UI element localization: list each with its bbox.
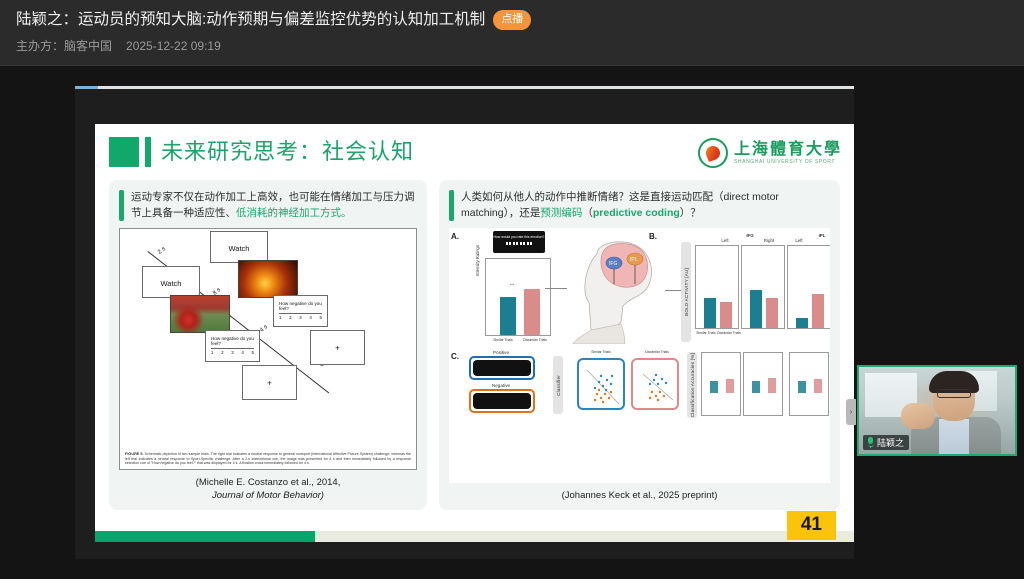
speaker-shirt — [939, 419, 969, 456]
organizer-label: 主办方：脑客中国 — [16, 39, 112, 53]
slide-title: 未来研究思考：社会认知 — [161, 136, 414, 168]
stimulus-image-fire — [238, 260, 298, 298]
right-quote-text: 人类如何从他人的动作中推断情绪？这是直接运动匹配（direct motor ma… — [461, 190, 830, 221]
panel-b-chart-ifg-left — [695, 245, 739, 329]
rating-num: 2 — [221, 350, 223, 355]
scatter-svg-similar — [581, 362, 625, 410]
stimulus-frame-negative — [469, 389, 535, 413]
timing-label-1: 2 s — [157, 246, 167, 256]
rating-question-lower: How negative do you feel? — [211, 336, 259, 346]
task-prompt-text: How would you rate this emotion? — [493, 231, 545, 239]
panel-b-hemi-2: Right — [755, 238, 783, 243]
bar-similar — [796, 318, 808, 328]
figure-caption: FIGURE 5. Schematic depiction of two sam… — [125, 452, 411, 466]
left-quote-text: 运动专家不仅在动作加工上高效，也可能在情绪加工与压力调节上具备一种适应性、低消耗… — [131, 190, 417, 221]
task-prompt-screen: How would you rate this emotion? — [493, 231, 545, 253]
slide-progress-fill — [95, 531, 315, 542]
university-logo: 上海體育大學 SHANGHAI UNIVERSITY OF SPORT — [698, 138, 842, 168]
bar-dissimilar-trials — [524, 289, 540, 335]
rating-card-upper: How negative do you feel? 1 2 3 4 5 — [273, 295, 328, 327]
rating-num: 1 — [211, 350, 213, 355]
presentation-slide: 未来研究思考：社会认知 上海體育大學 SHANGHAI UNIVERSITY O… — [95, 124, 854, 542]
stimulus-strip-negative — [473, 393, 531, 409]
cue-card-upper: Watch — [210, 231, 268, 263]
rating-num: 3 — [231, 350, 233, 355]
speaker-name: 陆颖之 — [877, 438, 904, 448]
logo-name-en: SHANGHAI UNIVERSITY OF SPORT — [734, 160, 842, 165]
panel-b-hemi-4: Right — [827, 238, 830, 243]
panel-a-ylabel: Intensity Ratings — [475, 245, 480, 276]
quote-accent-bar — [119, 190, 124, 221]
slide-columns: 运动专家不仅在动作加工上高效，也可能在情绪加工与压力调节上具备一种适应性、低消耗… — [109, 180, 840, 510]
right-content-card: 人类如何从他人的动作中推断情绪？这是直接运动匹配（direct motor ma… — [439, 180, 840, 510]
stimulus-image-sport — [170, 295, 230, 333]
panel-b-ylabel: BOLD ACTIVITY [AU] — [684, 268, 689, 316]
rating-numbers-lower: 1 2 3 4 5 — [211, 349, 254, 355]
rating-num: 2 — [289, 315, 291, 320]
scatter-svg-dissimilar — [635, 362, 679, 410]
panel-b-letter: B. — [649, 232, 657, 241]
left-quote-end: 。 — [341, 207, 352, 219]
rating-num: 1 — [279, 315, 281, 320]
stimulus-frame-positive — [469, 356, 535, 380]
slide-header: 未来研究思考：社会认知 上海體育大學 SHANGHAI UNIVERSITY O… — [95, 124, 854, 180]
bar-dissimilar — [766, 298, 778, 328]
rating-num: 3 — [299, 315, 301, 320]
quote-accent-bar-right — [449, 190, 454, 221]
webinar-player-app: 陆颖之：运动员的预知大脑:动作预期与偏差监控优势的认知加工机制 点播 主办方：脑… — [0, 0, 1024, 579]
right-figure-neuroimaging: A. How would you rate this emotion? — [449, 228, 830, 483]
rating-card-lower: How negative do you feel? 1 2 3 4 5 — [205, 330, 260, 362]
cue-card-lower: Watch — [142, 266, 200, 298]
page-header: 陆颖之：运动员的预知大脑:动作预期与偏差监控优势的认知加工机制 点播 主办方：脑… — [0, 0, 1024, 66]
figure-caption-text: Schematic depiction of two sample trials… — [125, 452, 411, 465]
right-quote-line1: 人类如何从他人的动作中推断情绪？这是直接运动匹配 — [461, 191, 713, 203]
panel-c-boxplot-ifg-left — [701, 352, 741, 416]
brain-head-diagram: IFG IPL — [567, 236, 665, 344]
meta-row: 主办方：脑客中国 2025-12-22 09:19 — [16, 39, 1008, 53]
box-similar — [798, 381, 806, 393]
bar-similar — [704, 298, 716, 328]
panel-c-ylabel-band: Classification Accuracies [%] — [687, 352, 697, 418]
collapse-panel-handle[interactable]: › — [846, 399, 856, 425]
classifier-band: Classifier — [553, 356, 563, 414]
rating-num: 4 — [241, 350, 243, 355]
left-quote-line1: 运动专家不仅在动作加工上高效，也可能在情 — [131, 191, 341, 203]
panel-c-boxplot-ifg-right — [743, 352, 783, 416]
scatter-plot-similar — [577, 358, 625, 410]
stimulus-label-negative: Negative — [469, 383, 533, 388]
right-quote-line2c: ）？ — [680, 207, 701, 219]
left-citation: (Michelle E. Costanzo et al., 2014, Jour… — [119, 476, 417, 502]
head-svg-icon: IFG IPL — [567, 236, 665, 344]
right-quote-line2b: （ — [582, 207, 593, 219]
rating-num: 5 — [320, 315, 322, 320]
left-figure-paradigm: 2 s 8 s 4 s 4 s Watch How negative do yo… — [119, 228, 417, 470]
panel-c-scatter-label-dissimilar: Dissimilar Trials — [631, 350, 683, 354]
title-row: 陆颖之：运动员的预知大脑:动作预期与偏差监控优势的认知加工机制 点播 — [16, 10, 1008, 30]
fixation-cross-lower — [242, 365, 297, 400]
box-dissimilar — [814, 379, 822, 393]
panel-b-ylabel-band: BOLD ACTIVITY [AU] — [681, 242, 691, 342]
panel-c-scatter-label-similar: Similar Trials — [577, 350, 625, 354]
bar-dissimilar — [720, 302, 732, 328]
cue-label-lower: Watch — [143, 279, 199, 288]
panel-b-xlabel-similar: Similar Trials — [695, 331, 717, 335]
fixation-cross-upper — [310, 330, 365, 365]
microphone-icon — [867, 437, 874, 448]
video-progress-fill — [75, 86, 98, 89]
panel-a-letter: A. — [451, 232, 459, 241]
bar-dissimilar — [812, 294, 824, 328]
rating-num: 5 — [252, 350, 254, 355]
rating-num: 4 — [309, 315, 311, 320]
timing-label-3: 4 s — [259, 324, 269, 334]
slide-progress-bar[interactable] — [95, 531, 854, 542]
glasses-icon — [937, 389, 971, 398]
speaker-video-tile[interactable]: 陆颖之 — [857, 365, 1017, 456]
logo-text: 上海體育大學 SHANGHAI UNIVERSITY OF SPORT — [734, 142, 842, 165]
page-number-badge: 41 — [787, 511, 836, 540]
panel-c-ylabel: Classification Accuracies [%] — [690, 353, 695, 417]
panel-b-chart-ifg-right — [741, 245, 785, 329]
panel-c-letter: C. — [451, 352, 459, 361]
flame-icon — [704, 144, 722, 162]
accent-bar — [145, 137, 151, 167]
speaker-hand — [901, 403, 935, 429]
right-quote-green-a: 预测编码 — [540, 207, 582, 219]
significance-marker: *** — [510, 283, 514, 287]
cue-label-upper: Watch — [211, 244, 267, 253]
logo-name-cn: 上海體育大學 — [734, 142, 842, 158]
left-quote: 运动专家不仅在动作加工上高效，也可能在情绪加工与压力调节上具备一种适应性、低消耗… — [119, 190, 417, 221]
page-title: 陆颖之：运动员的预知大脑:动作预期与偏差监控优势的认知加工机制 — [16, 10, 485, 30]
slide-viewport[interactable]: 未来研究思考：社会认知 上海體育大學 SHANGHAI UNIVERSITY O… — [75, 86, 854, 559]
rating-scale-lower: 1 2 3 4 5 — [211, 348, 254, 355]
box-dissimilar — [768, 378, 776, 393]
panel-a-chart: *** — [485, 258, 551, 336]
panel-c-boxplot-ipl-left — [789, 352, 829, 416]
panel-b-chart-ipl-left — [787, 245, 830, 329]
left-citation-line2: Journal of Motor Behavior) — [119, 489, 417, 502]
rating-numbers-upper: 1 2 3 4 5 — [279, 314, 322, 320]
panel-a-xlabel-dissimilar: Dissimilar Trials — [517, 338, 553, 342]
accent-block — [109, 137, 139, 167]
left-quote-green1: 低消耗 — [236, 207, 268, 219]
video-stage[interactable]: 未来研究思考：社会认知 上海體育大學 SHANGHAI UNIVERSITY O… — [0, 66, 1024, 579]
stimulus-strip-positive — [473, 360, 531, 376]
box-similar — [752, 381, 760, 393]
lecture-datetime: 2025-12-22 09:19 — [126, 39, 221, 53]
box-similar — [710, 381, 718, 393]
panel-a-xlabel-similar: Similar Trials — [487, 338, 519, 342]
rating-question-upper: How negative do you feel? — [279, 301, 327, 311]
panel-b-xlabel-dissimilar: Dissimilar Trials — [717, 331, 741, 335]
right-quote-green-b: predictive coding — [593, 207, 680, 219]
logo-emblem-icon — [698, 138, 728, 168]
panel-b-hemi-3: Left — [785, 238, 813, 243]
scatter-plot-dissimilar — [631, 358, 679, 410]
left-quote-green2: 的神经加工方式 — [268, 207, 342, 219]
bar-similar-trials — [500, 297, 516, 335]
panel-a-connector — [545, 288, 567, 289]
left-citation-line1: (Michelle E. Costanzo et al., 2014, — [119, 476, 417, 489]
status-badge-ondemand: 点播 — [493, 10, 531, 30]
box-dissimilar — [726, 379, 734, 393]
stimulus-label-positive: Positive — [469, 350, 533, 355]
figure-caption-bold: FIGURE 5. — [125, 452, 144, 456]
right-citation: (Johannes Keck et al., 2025 preprint) — [449, 489, 830, 502]
bar-similar — [750, 290, 762, 328]
speaker-name-badge: 陆颖之 — [863, 435, 909, 450]
svg-text:IPL: IPL — [630, 257, 638, 263]
rating-scale-upper: 1 2 3 4 5 — [279, 313, 322, 320]
panel-b-hemi-1: Left — [711, 238, 739, 243]
classifier-label: Classifier — [556, 375, 561, 396]
right-quote: 人类如何从他人的动作中推断情绪？这是直接运动匹配（direct motor ma… — [449, 190, 830, 221]
video-progress-bar[interactable] — [75, 86, 854, 89]
left-content-card: 运动专家不仅在动作加工上高效，也可能在情绪加工与压力调节上具备一种适应性、低消耗… — [109, 180, 427, 510]
svg-text:IFG: IFG — [609, 261, 617, 267]
